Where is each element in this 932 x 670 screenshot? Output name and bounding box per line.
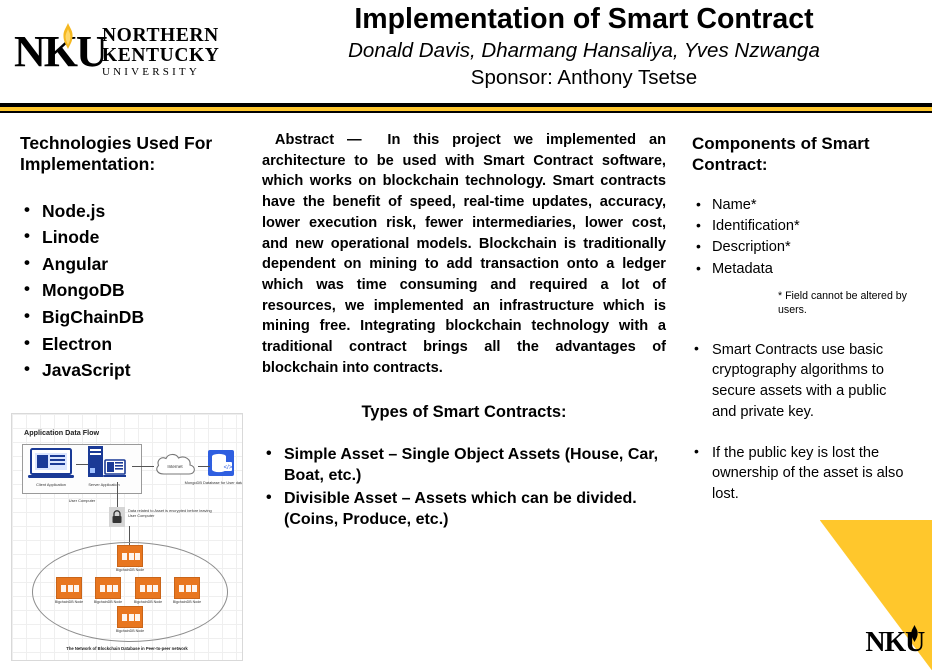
list-item: MongoDB — [20, 277, 238, 304]
right-column: Components of Smart Contract: Name* Iden… — [682, 113, 932, 525]
title-block: Implementation of Smart Contract Donald … — [250, 4, 918, 90]
nku-logo: NKU NORTHERN KENTUCKY UNIVERSITY — [14, 23, 246, 81]
list-item: If the public key is lost the ownership … — [692, 443, 914, 505]
node-cells-icon — [61, 585, 79, 592]
node-cells-icon — [140, 585, 158, 592]
corner-flame-icon — [909, 625, 920, 642]
svg-text:Internet: Internet — [167, 464, 183, 469]
internet-cloud-icon: Internet — [152, 452, 198, 482]
arrow-server-internet — [132, 466, 154, 467]
components-list: Name* Identification* Description* Metad… — [692, 195, 914, 280]
list-item: Angular — [20, 251, 238, 278]
nku-logo-wordmark: NORTHERN KENTUCKY UNIVERSITY — [102, 26, 219, 78]
bigchaindb-node — [56, 577, 82, 599]
application-data-flow-diagram: Application Data Flow Client Application… — [11, 413, 243, 661]
authors: Donald Davis, Dharmang Hansaliya, Yves N… — [250, 38, 918, 64]
arrow-internet-lock — [117, 482, 118, 508]
page-title: Implementation of Smart Contract — [250, 4, 918, 36]
poster-root: NKU NORTHERN KENTUCKY UNIVERSITY Impleme… — [0, 0, 932, 670]
server-application-label: Server Application — [75, 482, 133, 487]
nku-logo-line2: KENTUCKY — [102, 46, 219, 66]
list-item: Smart Contracts use basic cryptography a… — [692, 340, 914, 423]
bigchaindb-node-label: BigchainDB Node — [49, 600, 89, 604]
bigchaindb-node — [117, 545, 143, 567]
technologies-list: Node.js Linode Angular MongoDB BigChainD… — [20, 198, 238, 384]
node-cells-icon — [122, 553, 140, 560]
nku-logo-line3: UNIVERSITY — [102, 67, 219, 78]
bigchaindb-node-label: BigchainDB Node — [167, 600, 207, 604]
nku-logo-mark: NKU — [14, 24, 96, 80]
mongodb-icon: </> — [208, 450, 234, 476]
bigchaindb-node — [95, 577, 121, 599]
bigchaindb-node — [135, 577, 161, 599]
list-item: JavaScript — [20, 357, 238, 384]
arrow-internet-db — [198, 466, 210, 467]
node-cells-icon — [179, 585, 197, 592]
list-item: Identification* — [692, 216, 914, 237]
abstract-paragraph: Abstract — In this project we implemente… — [262, 130, 666, 379]
list-item: Metadata — [692, 259, 914, 280]
left-column-heading: Technologies Used For Implementation: — [20, 133, 238, 176]
server-icon — [84, 446, 126, 484]
right-column-heading: Components of Smart Contract: — [692, 133, 914, 175]
bigchaindb-node-label: BigchainDB Node — [110, 629, 150, 633]
sponsor: Sponsor: Anthony Tsetse — [250, 65, 918, 91]
left-column: Technologies Used For Implementation: No… — [0, 113, 250, 384]
encryption-note-label: Data related to Asset is encrypted befor… — [128, 508, 212, 518]
list-item: Linode — [20, 224, 238, 251]
middle-column: Abstract — In this project we implemente… — [252, 113, 676, 533]
poster-header: NKU NORTHERN KENTUCKY UNIVERSITY Impleme… — [0, 0, 932, 103]
list-item: Node.js — [20, 198, 238, 225]
bigchaindb-node-label: BigchainDB Node — [110, 568, 150, 572]
list-item: Description* — [692, 237, 914, 258]
abstract-label: Abstract — — [275, 132, 362, 148]
list-item: Name* — [692, 195, 914, 216]
svg-text:</>: </> — [224, 465, 233, 471]
notes-list: Smart Contracts use basic cryptography a… — [692, 340, 914, 505]
types-heading: Types of Smart Contracts: — [262, 403, 666, 422]
network-caption: The Network of Blockchain Database in Pe… — [12, 646, 242, 651]
bigchaindb-node-label: BigchainDB Node — [88, 600, 128, 604]
list-item: Simple Asset – Single Object Assets (Hou… — [262, 444, 666, 487]
client-application-label: Client Application — [24, 482, 78, 487]
user-computer-label: User Computer — [52, 498, 112, 503]
nku-logo-line1: NORTHERN — [102, 26, 219, 46]
types-list: Simple Asset – Single Object Assets (Hou… — [262, 444, 666, 531]
list-item: BigChainDB — [20, 304, 238, 331]
bigchaindb-node-label: BigchainDB Node — [128, 600, 168, 604]
laptop-icon — [28, 448, 74, 480]
list-item: Divisible Asset – Assets which can be di… — [262, 488, 666, 531]
diagram-title: Application Data Flow — [24, 428, 99, 437]
flame-icon — [60, 23, 76, 49]
node-cells-icon — [122, 614, 140, 621]
node-cells-icon — [100, 585, 118, 592]
bigchaindb-node — [174, 577, 200, 599]
mongodb-label: MongoDB Database for User data storage — [182, 480, 243, 485]
arrow-client-server — [76, 464, 88, 465]
components-footnote: * Field cannot be altered by users. — [778, 290, 914, 318]
bigchaindb-node — [117, 606, 143, 628]
list-item: Electron — [20, 331, 238, 358]
abstract-body: In this project we implemented an archit… — [262, 132, 666, 376]
lock-icon — [109, 507, 125, 527]
